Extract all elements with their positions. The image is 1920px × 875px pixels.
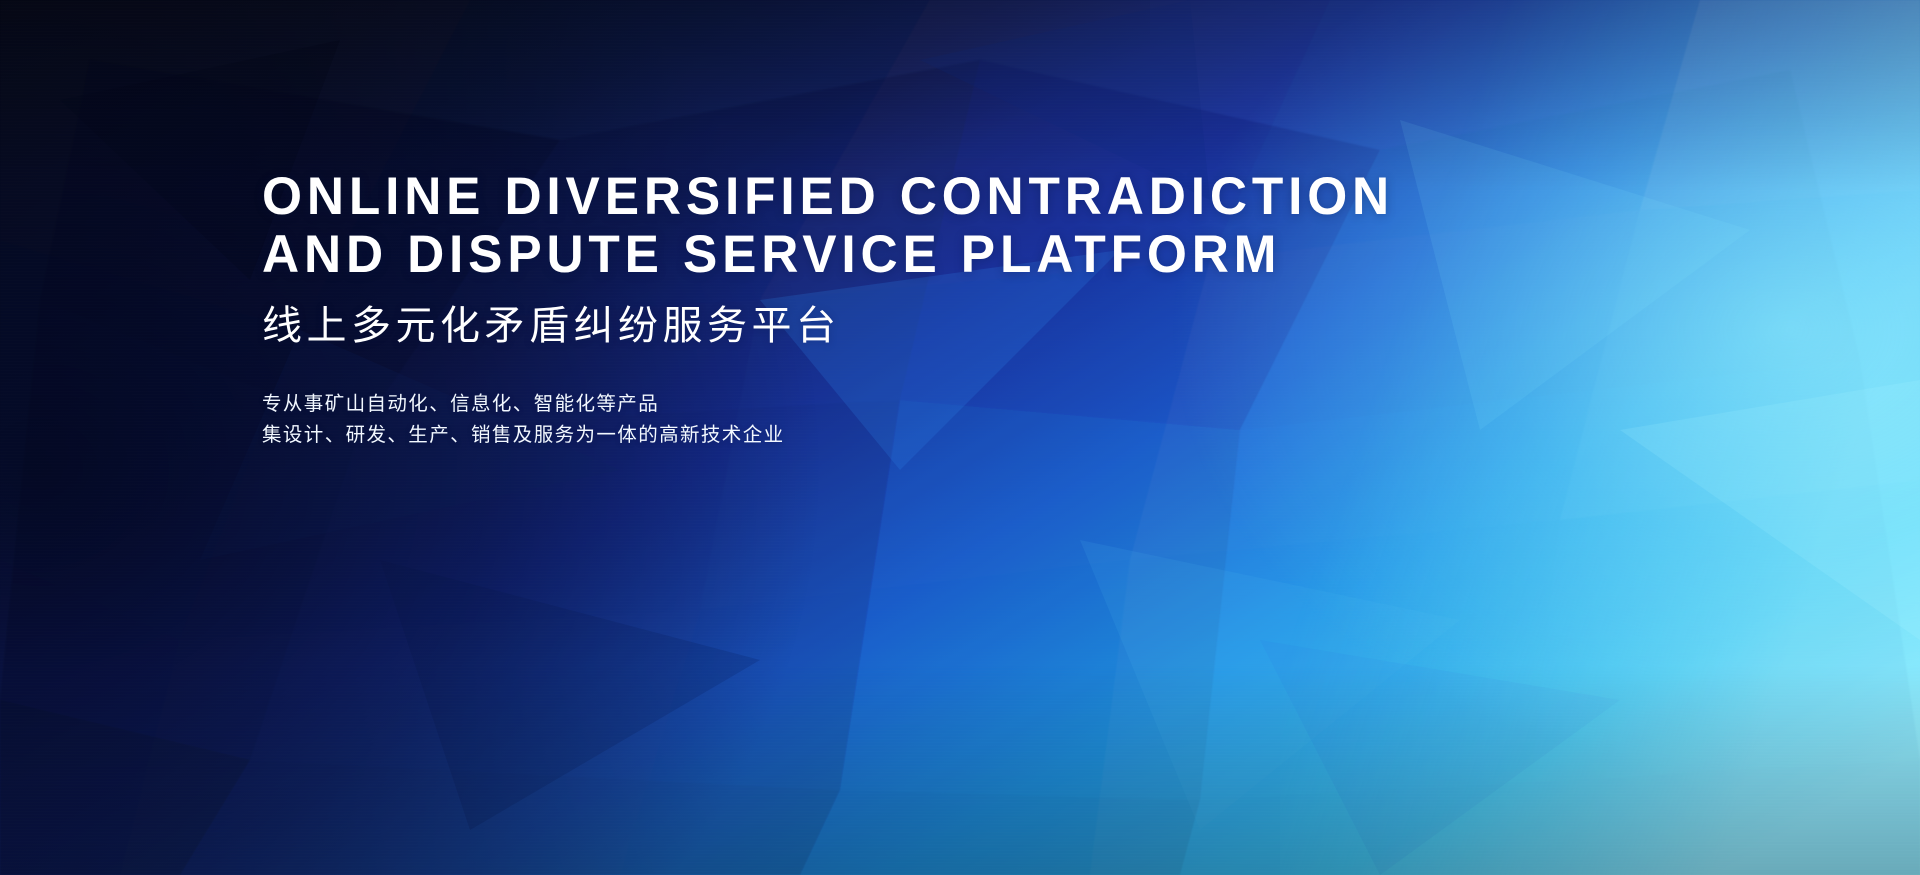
description-line-1: 专从事矿山自动化、信息化、智能化等产品 — [262, 389, 1382, 420]
description-line-2: 集设计、研发、生产、销售及服务为一体的高新技术企业 — [262, 420, 1382, 451]
description-list: 专从事矿山自动化、信息化、智能化等产品 集设计、研发、生产、销售及服务为一体的高… — [262, 389, 1382, 451]
headline-line-1: ONLINE DIVERSIFIED CONTRADICTION — [262, 168, 1348, 226]
headline: ONLINE DIVERSIFIED CONTRADICTION AND DIS… — [262, 168, 1348, 284]
subtitle-chinese: 线上多元化矛盾纠纷服务平台 — [262, 303, 1382, 349]
hero-banner: ONLINE DIVERSIFIED CONTRADICTION AND DIS… — [0, 0, 1920, 875]
hero-content: ONLINE DIVERSIFIED CONTRADICTION AND DIS… — [262, 168, 1382, 451]
headline-line-2: AND DISPUTE SERVICE PLATFORM — [262, 226, 1348, 284]
